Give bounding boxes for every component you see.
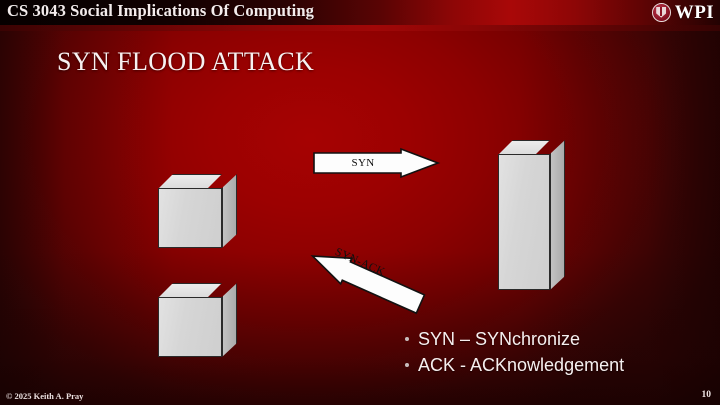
presentation-slide: CS 3043 Social Implications Of Computing… xyxy=(0,0,720,405)
syn-arrow: SYN xyxy=(313,148,439,178)
cube-top-face xyxy=(158,283,222,298)
wpi-logo-text: WPI xyxy=(675,3,714,22)
syn-arrow-label: SYN xyxy=(313,148,413,178)
syn-ack-arrow: SYN-ACK xyxy=(308,232,432,298)
list-item-label: SYN – SYNchronize xyxy=(418,329,580,350)
client-cube-top xyxy=(158,174,222,234)
slide-title: SYN FLOOD ATTACK xyxy=(57,47,314,77)
slide-header-accent-strip xyxy=(0,25,720,31)
bullet-dot-icon xyxy=(405,363,409,367)
wpi-seal-icon xyxy=(652,3,671,22)
list-item: SYN – SYNchronize xyxy=(405,329,705,350)
server-side-face xyxy=(550,140,565,290)
client-cube-bottom xyxy=(158,283,222,343)
cube-front-face xyxy=(158,188,222,248)
bullet-dot-icon xyxy=(405,337,409,341)
server-front-face xyxy=(498,154,550,290)
server-tower xyxy=(498,140,550,276)
page-number: 10 xyxy=(702,390,712,400)
copyright-notice: © 2025 Keith A. Pray xyxy=(6,391,83,401)
cube-front-face xyxy=(158,297,222,357)
course-title: CS 3043 Social Implications Of Computing xyxy=(7,1,314,21)
list-item: ACK - ACKnowledgement xyxy=(405,355,705,376)
cube-top-face xyxy=(158,174,222,189)
list-item-label: ACK - ACKnowledgement xyxy=(418,355,624,376)
wpi-logo: WPI xyxy=(652,1,714,24)
definition-list: SYN – SYNchronize ACK - ACKnowledgement xyxy=(405,329,705,381)
server-top-face xyxy=(498,140,550,155)
